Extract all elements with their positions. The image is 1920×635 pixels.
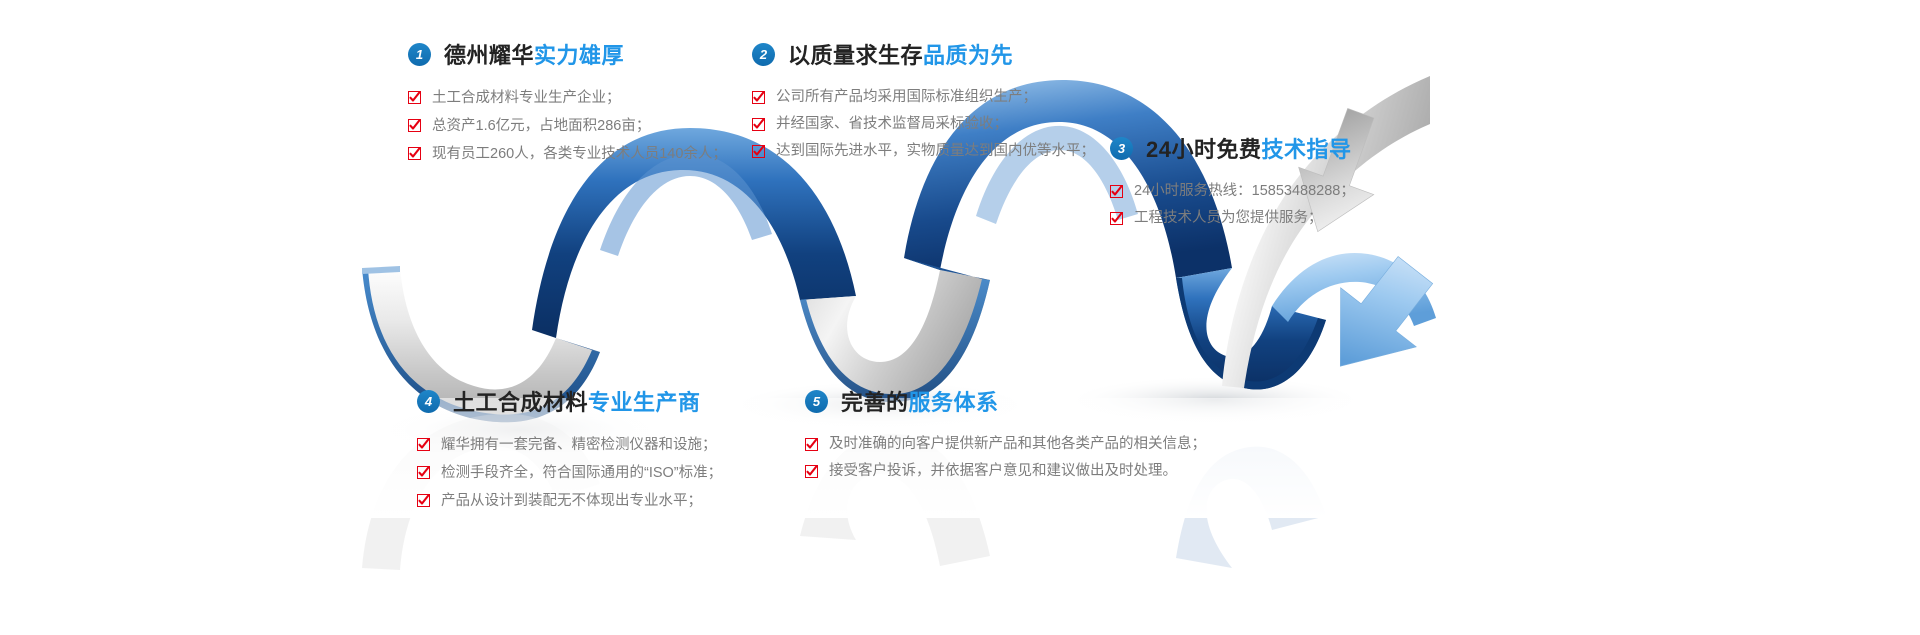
feature-bullet-list: 24小时服务热线：15853488288； 工程技术人员为您提供服务；	[1110, 178, 1355, 232]
feature-heading: 4 土工合成材料专业生产商	[417, 385, 722, 417]
list-item: 及时准确的向客户提供新产品和其他各类产品的相关信息；	[805, 431, 1206, 458]
feature-heading: 2 以质量求生存品质为先	[752, 38, 1095, 70]
list-item: 总资产1.6亿元，占地面积286亩；	[408, 112, 727, 140]
list-item-text: 耀华拥有一套完备、精密检测仪器和设施；	[441, 431, 717, 459]
feature-block-5: 5 完善的服务体系 及时准确的向客户提供新产品和其他各类产品的相关信息； 接受客…	[805, 385, 1206, 485]
list-item: 土工合成材料专业生产企业；	[408, 84, 727, 112]
feature-heading: 1 德州耀华实力雄厚	[408, 38, 727, 70]
list-item: 并经国家、省技术监督局采标验收；	[752, 111, 1095, 138]
list-item: 耀华拥有一套完备、精密检测仪器和设施；	[417, 431, 722, 459]
list-item-text: 工程技术人员为您提供服务；	[1134, 205, 1323, 232]
list-item-text: 产品从设计到装配无不体现出专业水平；	[441, 487, 702, 515]
feature-bullet-list: 土工合成材料专业生产企业； 总资产1.6亿元，占地面积286亩； 现有员工260…	[408, 84, 727, 168]
badge-number: 2	[752, 43, 775, 66]
feature-title-accent: 专业生产商	[588, 390, 701, 415]
feature-block-4: 4 土工合成材料专业生产商 耀华拥有一套完备、精密检测仪器和设施； 检测手段齐全…	[417, 385, 722, 515]
badge-number: 3	[1110, 137, 1133, 160]
list-item-text: 达到国际先进水平，实物质量达到国内优等水平；	[776, 138, 1095, 165]
check-icon	[805, 465, 818, 478]
feature-title-accent: 品质为先	[923, 43, 1013, 68]
feature-title: 完善的服务体系	[841, 385, 999, 417]
feature-block-3: 3 24小时免费技术指导 24小时服务热线：15853488288； 工程技术人…	[1110, 132, 1355, 232]
check-icon	[417, 438, 430, 451]
check-icon	[752, 91, 765, 104]
list-item-text: 公司所有产品均采用国际标准组织生产；	[776, 84, 1037, 111]
feature-title-main: 土工合成材料	[453, 390, 588, 415]
feature-title-accent: 服务体系	[909, 390, 999, 415]
check-icon	[1110, 212, 1123, 225]
feature-title-main: 以质量求生存	[788, 43, 923, 68]
feature-title: 德州耀华实力雄厚	[444, 38, 624, 70]
banner-stage: 1 德州耀华实力雄厚 土工合成材料专业生产企业； 总资产1.6亿元，占地面积28…	[0, 0, 1920, 635]
feature-bullet-list: 公司所有产品均采用国际标准组织生产； 并经国家、省技术监督局采标验收； 达到国际…	[752, 84, 1095, 165]
check-icon	[1110, 185, 1123, 198]
list-item: 达到国际先进水平，实物质量达到国内优等水平；	[752, 138, 1095, 165]
list-item: 接受客户投诉，并依据客户意见和建议做出及时处理。	[805, 458, 1206, 485]
badge-number: 5	[805, 390, 828, 413]
list-item-text: 接受客户投诉，并依据客户意见和建议做出及时处理。	[829, 458, 1177, 485]
feature-title-main: 24小时免费	[1146, 137, 1261, 162]
check-icon	[805, 438, 818, 451]
check-icon	[417, 494, 430, 507]
feature-title-main: 德州耀华	[444, 43, 534, 68]
feature-title-main: 完善的	[841, 390, 909, 415]
list-item: 公司所有产品均采用国际标准组织生产；	[752, 84, 1095, 111]
badge-number: 1	[408, 43, 431, 66]
check-icon	[408, 91, 421, 104]
feature-block-1: 1 德州耀华实力雄厚 土工合成材料专业生产企业； 总资产1.6亿元，占地面积28…	[408, 38, 727, 168]
check-icon	[408, 119, 421, 132]
feature-block-2: 2 以质量求生存品质为先 公司所有产品均采用国际标准组织生产； 并经国家、省技术…	[752, 38, 1095, 165]
list-item: 工程技术人员为您提供服务；	[1110, 205, 1355, 232]
list-item-text: 24小时服务热线：15853488288；	[1134, 178, 1355, 205]
feature-title: 土工合成材料专业生产商	[453, 385, 701, 417]
check-icon	[417, 466, 430, 479]
feature-heading: 5 完善的服务体系	[805, 385, 1206, 417]
feature-title-accent: 技术指导	[1261, 137, 1351, 162]
feature-bullet-list: 及时准确的向客户提供新产品和其他各类产品的相关信息； 接受客户投诉，并依据客户意…	[805, 431, 1206, 485]
badge-number: 4	[417, 390, 440, 413]
feature-heading: 3 24小时免费技术指导	[1110, 132, 1355, 164]
list-item: 产品从设计到装配无不体现出专业水平；	[417, 487, 722, 515]
list-item-text: 土工合成材料专业生产企业；	[432, 84, 621, 112]
feature-bullet-list: 耀华拥有一套完备、精密检测仪器和设施； 检测手段齐全，符合国际通用的“ISO”标…	[417, 431, 722, 515]
list-item-text: 现有员工260人，各类专业技术人员140余人；	[432, 140, 727, 168]
feature-title: 以质量求生存品质为先	[788, 38, 1013, 70]
check-icon	[752, 145, 765, 158]
list-item-text: 检测手段齐全，符合国际通用的“ISO”标准；	[441, 459, 722, 487]
list-item: 现有员工260人，各类专业技术人员140余人；	[408, 140, 727, 168]
list-item: 24小时服务热线：15853488288；	[1110, 178, 1355, 205]
list-item-text: 总资产1.6亿元，占地面积286亩；	[432, 112, 650, 140]
list-item-text: 及时准确的向客户提供新产品和其他各类产品的相关信息；	[829, 431, 1206, 458]
feature-title: 24小时免费技术指导	[1146, 132, 1352, 164]
feature-title-accent: 实力雄厚	[534, 43, 624, 68]
check-icon	[752, 118, 765, 131]
list-item-text: 并经国家、省技术监督局采标验收；	[776, 111, 1008, 138]
check-icon	[408, 147, 421, 160]
list-item: 检测手段齐全，符合国际通用的“ISO”标准；	[417, 459, 722, 487]
